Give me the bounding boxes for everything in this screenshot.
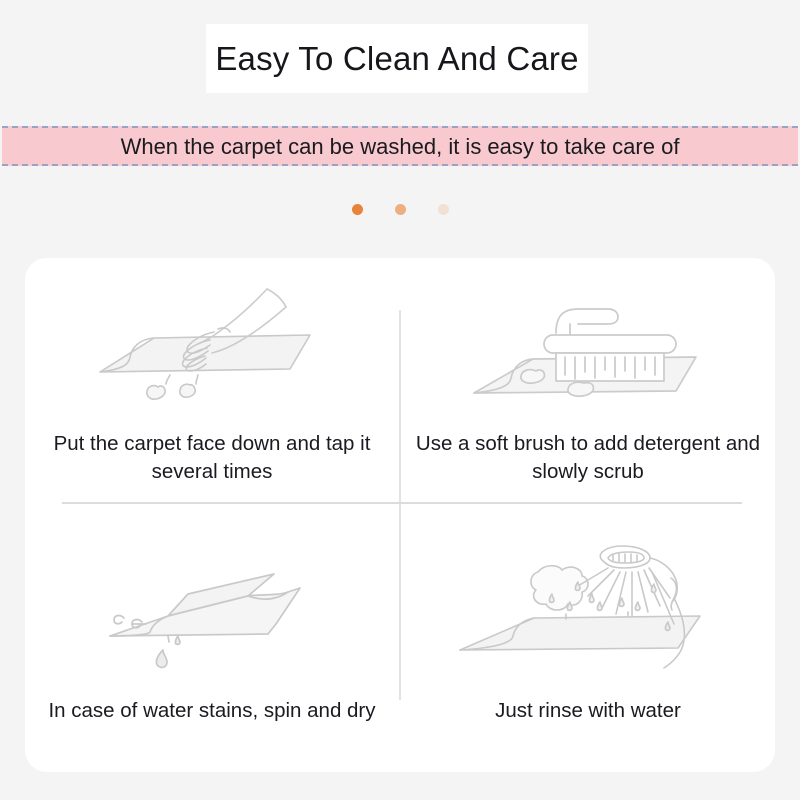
hand-tapping-carpet-icon: [25, 266, 399, 426]
page-title: Easy To Clean And Care: [206, 24, 588, 93]
carousel-dot-2-icon[interactable]: [395, 204, 406, 215]
carousel-dots: [0, 198, 800, 220]
subtitle-text: When the carpet can be washed, it is eas…: [2, 128, 798, 168]
step-caption-3: In case of water stains, spin and dry: [39, 697, 385, 725]
carousel-dot-1-icon[interactable]: [352, 204, 363, 215]
step-card-2: Use a soft brush to add detergent and sl…: [401, 258, 775, 515]
subtitle-banner: When the carpet can be washed, it is eas…: [2, 126, 798, 166]
step-caption-1: Put the carpet face down and tap it seve…: [39, 430, 385, 486]
step-card-1: Put the carpet face down and tap it seve…: [25, 258, 399, 515]
carousel-dot-3-icon[interactable]: [438, 204, 449, 215]
scrub-brush-on-carpet-icon: [401, 266, 775, 426]
folded-carpet-drying-icon: [25, 533, 399, 693]
steps-card: Put the carpet face down and tap it seve…: [25, 258, 775, 772]
step-caption-4: Just rinse with water: [415, 697, 761, 725]
title-section: Easy To Clean And Care: [0, 0, 800, 118]
step-card-3: In case of water stains, spin and dry: [25, 515, 399, 772]
step-caption-2: Use a soft brush to add detergent and sl…: [415, 430, 761, 486]
shower-head-rinsing-carpet-icon: [401, 533, 775, 693]
step-card-4: Just rinse with water: [401, 515, 775, 772]
